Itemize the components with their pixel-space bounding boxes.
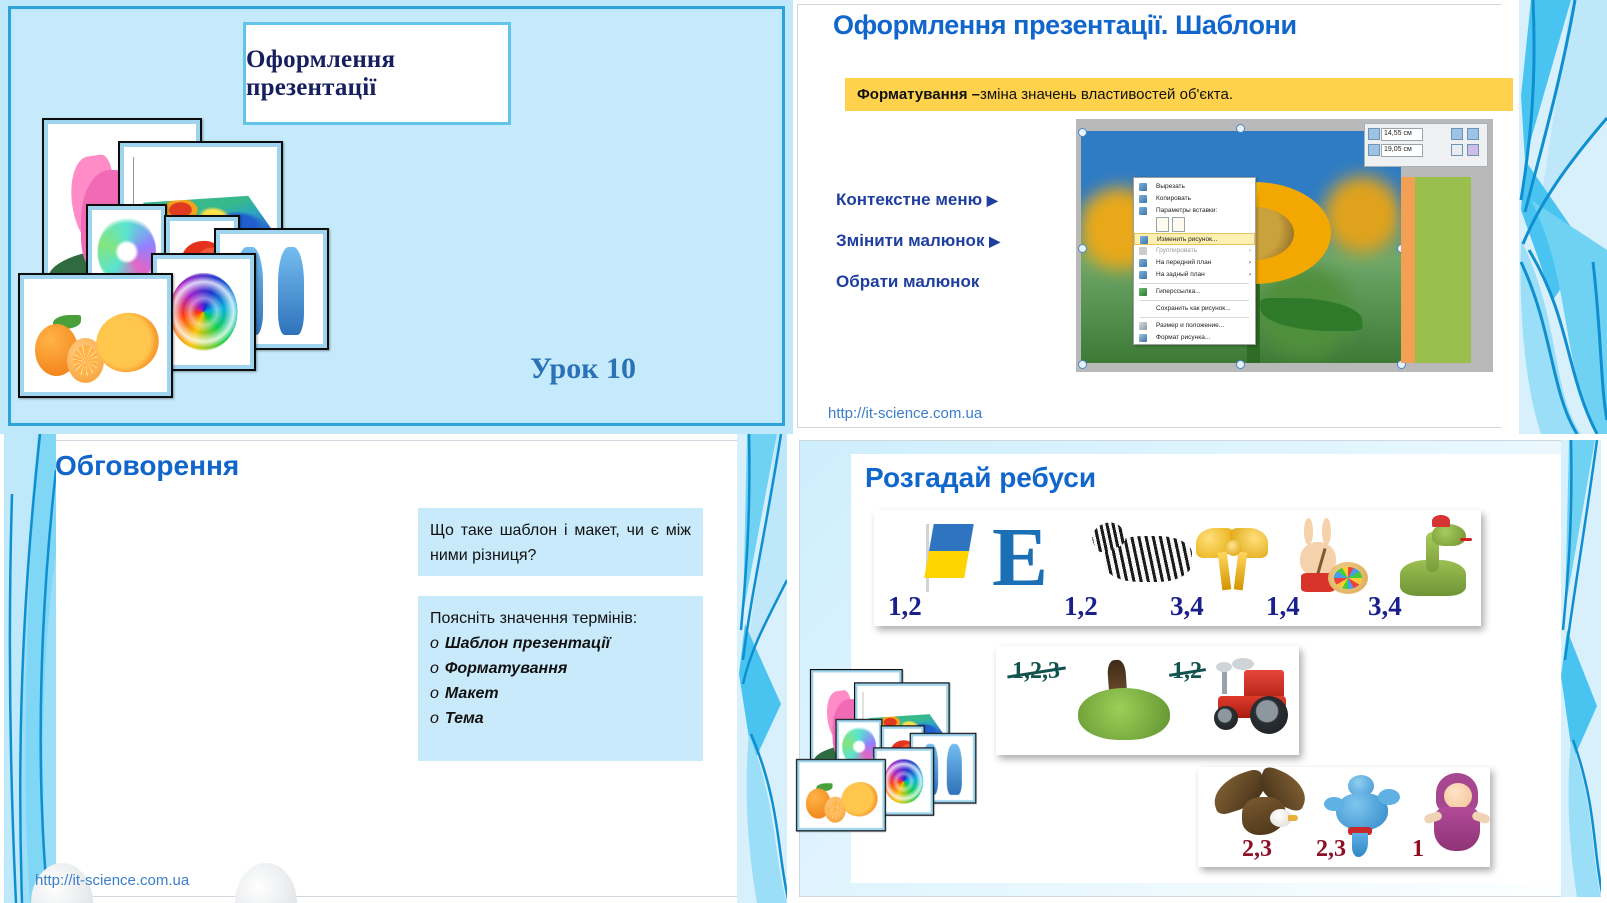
rebus-number: 1,2 <box>1172 658 1202 685</box>
step-change-picture: Змінити малюнок ▶ <box>836 231 1000 251</box>
slide-grid: ★ ★ ★ ★ ★ ★ <box>0 0 1607 903</box>
shape-height-icon <box>1368 128 1380 140</box>
menu-item-paste-options[interactable]: Параметры вставки: <box>1134 205 1255 217</box>
step-label: Контекстне меню <box>836 190 982 209</box>
terms-box: Поясніть значення термінів: oШаблон през… <box>418 596 703 761</box>
shape-width-value[interactable]: 19,05 см <box>1384 144 1412 156</box>
rebus-number: 2,3 <box>1242 836 1272 863</box>
red-tractor-icon <box>1210 662 1292 742</box>
chevron-right-icon: › <box>1249 257 1251 269</box>
term-item: oМакет <box>430 681 691 706</box>
rebus-number: 1,2 <box>888 591 922 622</box>
menu-item-bring-to-front[interactable]: На передний план › <box>1134 257 1255 269</box>
send-backward-icon[interactable] <box>1467 128 1479 140</box>
term-item: oШаблон презентації <box>430 631 691 656</box>
menu-item-copy[interactable]: Копировать <box>1134 193 1255 205</box>
group-icon <box>1139 247 1147 255</box>
context-menu[interactable]: Вырезать Копировать Параметры вставки: И… <box>1133 177 1256 345</box>
page-title: Обговорення <box>55 450 239 482</box>
copy-icon <box>1139 195 1147 203</box>
gold-bow-icon <box>1196 524 1272 592</box>
menu-item-save-as-picture[interactable]: Сохранить как рисунок... <box>1134 303 1255 315</box>
chevron-right-icon: › <box>1249 245 1251 257</box>
powerpoint-screenshot: 14,55 см 19,05 см Вырезать Копировать <box>1076 119 1493 372</box>
bring-forward-icon[interactable] <box>1451 128 1463 140</box>
bring-to-front-icon <box>1139 259 1147 267</box>
send-to-back-icon <box>1139 271 1147 279</box>
size-mini-toolbar[interactable]: 14,55 см 19,05 см <box>1364 123 1488 167</box>
source-url[interactable]: http://it-science.com.ua <box>828 405 982 422</box>
selection-handle[interactable] <box>1236 124 1245 133</box>
menu-item-hyperlink[interactable]: Гиперссылка... <box>1134 286 1255 298</box>
rebus-number: 3,4 <box>1368 591 1402 622</box>
menu-item-send-to-back[interactable]: На задный план › <box>1134 269 1255 281</box>
bullet-o-icon: o <box>430 710 439 727</box>
cut-icon <box>1139 183 1147 191</box>
slide-rebus[interactable]: Розгадай ребуси 1,2 Е 1,2 3,4 <box>793 434 1607 903</box>
term-item: oТема <box>430 706 691 731</box>
rebus-number: 1,4 <box>1266 591 1300 622</box>
definition-text: зміна значень властивостей об'єкта. <box>980 86 1233 103</box>
rebus-number: 1,2,3 <box>1012 658 1060 685</box>
picture-collage: ★ ★ ★ ★ ★ ★ <box>18 118 478 418</box>
change-picture-icon <box>1140 236 1148 244</box>
shape-height-value[interactable]: 14,55 см <box>1384 128 1412 140</box>
chevron-right-icon: › <box>1249 269 1251 281</box>
definition-banner: Форматування – зміна значень властивосте… <box>845 78 1513 111</box>
slide-templates[interactable]: Оформлення презентації. Шаблони Форматув… <box>793 0 1607 434</box>
menu-item-group: Группировать › <box>1134 245 1255 257</box>
steps-list: Контекстне меню ▶ Змінити малюнок ▶ Обра… <box>836 190 1000 313</box>
rebus-row-3: 2,3 2,3 1 <box>1198 767 1490 867</box>
menu-item-cut[interactable]: Вырезать <box>1134 181 1255 193</box>
thumb-oranges <box>18 273 173 398</box>
step-context-menu: Контекстне меню ▶ <box>836 190 1000 210</box>
terms-lead: Поясніть значення термінів: <box>430 606 691 631</box>
rebus-row-1: 1,2 Е 1,2 3,4 1,4 <box>874 510 1481 626</box>
rebus-number: 3,4 <box>1170 591 1204 622</box>
rebus-number: 2,3 <box>1316 836 1346 863</box>
format-picture-icon <box>1139 334 1147 342</box>
step-choose-picture: Обрати малюнок <box>836 272 1000 292</box>
slide1-title-box: Оформлення презентації <box>243 22 511 125</box>
lesson-label: Урок 10 <box>530 352 636 386</box>
slide-title[interactable]: ★ ★ ★ ★ ★ ★ <box>0 0 793 434</box>
step-label: Обрати малюнок <box>836 272 979 291</box>
ukraine-flag-icon <box>924 524 974 578</box>
size-position-icon <box>1139 322 1147 330</box>
snake-icon <box>1394 516 1476 600</box>
rebus-number: 1,2 <box>1064 591 1098 622</box>
masha-icon <box>1426 773 1488 857</box>
paste-option-buttons[interactable] <box>1134 217 1255 233</box>
bullet-o-icon: o <box>430 660 439 677</box>
zebra-icon <box>1104 536 1192 582</box>
term-item: oФорматування <box>430 656 691 681</box>
letter-e-icon: Е <box>992 516 1048 600</box>
hyperlink-icon <box>1139 288 1147 296</box>
rebus-number: 1 <box>1412 836 1424 863</box>
selection-handle[interactable] <box>1078 244 1087 253</box>
definition-term: Форматування – <box>857 86 980 103</box>
page-title: Розгадай ребуси <box>865 462 1096 494</box>
menu-item-change-picture[interactable]: Изменить рисунок... <box>1134 233 1255 245</box>
page-title: Оформлення презентації <box>246 46 508 102</box>
uprooted-tree-icon <box>1072 660 1172 744</box>
selection-handle[interactable] <box>1078 128 1087 137</box>
bullet-o-icon: o <box>430 685 439 702</box>
paste-picture-icon[interactable] <box>1172 217 1185 232</box>
selection-handle[interactable] <box>1078 360 1087 369</box>
easter-bunny-icon <box>1292 520 1370 596</box>
menu-item-size-and-position[interactable]: Размер и положение... <box>1134 320 1255 332</box>
question-box: Що таке шаблон і макет, чи є між ними рі… <box>418 508 703 576</box>
slide-discussion[interactable]: Обговорення Що таке шаблон і макет, чи є… <box>0 434 793 903</box>
picture-collage-thumbnail: ★ ★ ★ <box>796 669 918 782</box>
paste-icon <box>1139 207 1147 215</box>
rotate-icon[interactable] <box>1451 144 1463 156</box>
page-title: Оформлення презентації. Шаблони <box>833 10 1297 41</box>
menu-item-format-picture[interactable]: Формат рисунка... <box>1134 332 1255 344</box>
bullet-o-icon: o <box>430 635 439 652</box>
triangle-right-icon: ▶ <box>987 192 998 208</box>
source-url[interactable]: http://it-science.com.ua <box>35 872 189 889</box>
picture-style-icon[interactable] <box>1467 144 1479 156</box>
triangle-right-icon: ▶ <box>989 233 1000 249</box>
rebus-row-2: 1,2,3 1,2 <box>996 646 1299 755</box>
selection-handle[interactable] <box>1236 360 1245 369</box>
shape-width-icon <box>1368 144 1380 156</box>
step-label: Змінити малюнок <box>836 231 984 250</box>
paste-keep-formatting-icon[interactable] <box>1156 217 1169 232</box>
